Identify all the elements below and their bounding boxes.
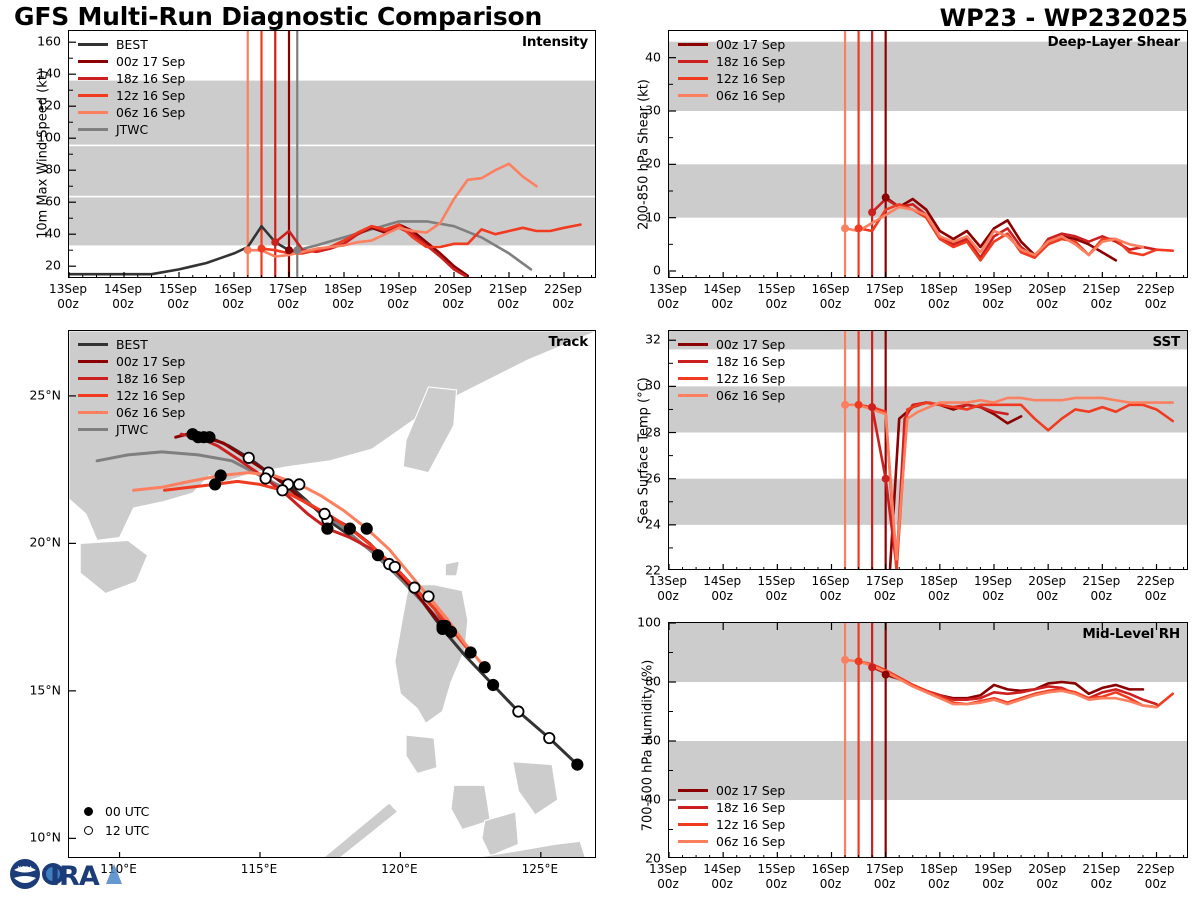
axis-tick-hour: 00z	[1137, 297, 1175, 312]
sst-panel: SST 00z 17 Sep18z 16 Sep12z 16 Sep06z 16…	[668, 330, 1188, 570]
legend-color-swatch	[78, 428, 108, 431]
axis-tick-label-group: 13Sep00z	[49, 282, 87, 312]
axis-tick-label-group: 17Sep00z	[866, 282, 904, 312]
axis-tick-label-group: 22Sep00z	[1137, 862, 1175, 892]
axis-tick-label-group: 16Sep00z	[812, 862, 850, 892]
series-endpoint-marker	[244, 246, 252, 254]
legend-item: 12z 16 Sep	[678, 816, 785, 833]
legend-color-swatch	[678, 43, 708, 46]
legend-item-label: 00z 17 Sep	[116, 54, 185, 69]
track-point-12utc	[319, 509, 329, 519]
axis-tick-hour: 00z	[649, 877, 687, 892]
axis-tick-label: 80	[45, 162, 61, 177]
sst-panel-label: SST	[1153, 334, 1180, 350]
axis-tick-hour: 00z	[489, 297, 527, 312]
landmass	[454, 841, 586, 858]
axis-tick-date: 19Sep	[974, 574, 1012, 589]
legend-item-label: 18z 16 Sep	[716, 800, 785, 815]
axis-tick-label: 20°N	[29, 535, 61, 550]
track-point-00utc	[215, 470, 225, 480]
legend-item: 18z 16 Sep	[78, 370, 185, 387]
legend-color-swatch	[78, 77, 108, 80]
track-point-12utc	[277, 485, 287, 495]
legend-item-label: 06z 16 Sep	[716, 88, 785, 103]
legend-item: 18z 16 Sep	[678, 799, 785, 816]
legend-item-label: 06z 16 Sep	[116, 105, 185, 120]
series-endpoint-marker	[855, 657, 863, 665]
axis-tick-label-group: 19Sep00z	[974, 862, 1012, 892]
legend-item: 00z 17 Sep	[678, 36, 785, 53]
axis-tick-hour: 00z	[1028, 297, 1066, 312]
legend-color-swatch	[678, 394, 708, 397]
axis-tick-label-group: 15Sep00z	[757, 574, 795, 604]
noaa-emblem-icon: NOAA	[10, 859, 40, 889]
legend-color-swatch	[78, 360, 108, 363]
axis-tick-date: 13Sep	[649, 862, 687, 877]
axis-tick-date: 18Sep	[920, 574, 958, 589]
axis-tick-label: 100	[637, 615, 661, 630]
track-point-00utc	[572, 759, 582, 769]
legend-item-label: 18z 16 Sep	[116, 371, 185, 386]
axis-tick-label-group: 18Sep00z	[324, 282, 362, 312]
axis-tick-hour: 00z	[812, 589, 850, 604]
axis-tick-date: 14Sep	[703, 282, 741, 297]
rh-panel: Mid-Level RH 00z 17 Sep18z 16 Sep12z 16 …	[668, 622, 1188, 858]
track-point-00utc	[465, 647, 475, 657]
axis-tick-label-group: 15Sep00z	[159, 282, 197, 312]
shaded-band	[669, 479, 1188, 525]
marker-legend-item: 00 UTC	[74, 802, 149, 821]
axis-tick-date: 18Sep	[920, 282, 958, 297]
landmass	[513, 762, 558, 815]
axis-tick-hour: 00z	[812, 877, 850, 892]
series-endpoint-marker	[841, 656, 849, 664]
landmass	[406, 735, 437, 773]
series-endpoint-marker	[868, 208, 876, 216]
track-map-panel: Track BEST00z 17 Sep18z 16 Sep12z 16 Sep…	[68, 330, 596, 858]
sst-y-axis-label: Sea Surface Temp (°C)	[637, 331, 652, 571]
axis-tick-date: 14Sep	[703, 574, 741, 589]
axis-tick-date: 19Sep	[974, 282, 1012, 297]
axis-tick-date: 17Sep	[866, 282, 904, 297]
track-point-00utc	[479, 662, 489, 672]
series-endpoint-marker	[882, 193, 890, 201]
axis-tick-label-group: 13Sep00z	[649, 862, 687, 892]
legend-item: 12z 16 Sep	[78, 87, 185, 104]
axis-tick-label-group: 18Sep00z	[920, 574, 958, 604]
axis-tick-hour: 00z	[703, 297, 741, 312]
legend-item: 00z 17 Sep	[678, 336, 785, 353]
axis-tick-date: 21Sep	[489, 282, 527, 297]
axis-tick-date: 19Sep	[379, 282, 417, 297]
legend-item-label: 00z 17 Sep	[716, 783, 785, 798]
axis-tick-label: 80	[645, 674, 661, 689]
legend-item-label: 18z 16 Sep	[716, 354, 785, 369]
axis-tick-date: 16Sep	[812, 574, 850, 589]
axis-tick-hour: 00z	[1028, 877, 1066, 892]
track-point-12utc	[423, 591, 433, 601]
track-point-00utc	[362, 523, 372, 533]
axis-tick-label-group: 13Sep00z	[649, 574, 687, 604]
axis-tick-date: 13Sep	[649, 282, 687, 297]
axis-tick-label-group: 18Sep00z	[920, 862, 958, 892]
axis-tick-hour: 00z	[866, 589, 904, 604]
legend-item: 18z 16 Sep	[678, 53, 785, 70]
legend-color-swatch	[78, 343, 108, 346]
axis-tick-label: 100	[37, 130, 61, 145]
axis-tick-label: 120°E	[381, 862, 418, 877]
legend-color-swatch	[678, 377, 708, 380]
track-point-12utc	[544, 733, 554, 743]
axis-tick-label: 60	[45, 194, 61, 209]
axis-tick-label-group: 22Sep00z	[1137, 282, 1175, 312]
legend-color-swatch	[78, 94, 108, 97]
legend-item: JTWC	[78, 121, 185, 138]
axis-tick-label: 160	[37, 34, 61, 49]
series-endpoint-marker	[882, 671, 890, 679]
marker-legend-label: 12 UTC	[105, 823, 149, 838]
legend-item-label: 12z 16 Sep	[716, 817, 785, 832]
axis-tick-date: 20Sep	[1028, 282, 1066, 297]
axis-tick-hour: 00z	[49, 297, 87, 312]
legend-item: 06z 16 Sep	[678, 87, 785, 104]
landmass	[445, 561, 459, 576]
axis-tick-hour: 00z	[1028, 589, 1066, 604]
axis-tick-hour: 00z	[1137, 877, 1175, 892]
track-point-12utc	[513, 706, 523, 716]
axis-tick-hour: 00z	[757, 589, 795, 604]
axis-tick-hour: 00z	[1082, 589, 1120, 604]
axis-tick-hour: 00z	[974, 297, 1012, 312]
axis-tick-label: 20	[645, 156, 661, 171]
axis-tick-date: 15Sep	[757, 862, 795, 877]
series-endpoint-marker	[841, 224, 849, 232]
axis-tick-date: 16Sep	[214, 282, 252, 297]
shear-panel-label: Deep-Layer Shear	[1048, 34, 1180, 50]
axis-tick-label-group: 16Sep00z	[812, 282, 850, 312]
series-endpoint-marker	[285, 246, 293, 254]
track-point-00utc	[373, 550, 383, 560]
axis-tick-label: 15°N	[29, 682, 61, 697]
legend-item: BEST	[78, 336, 185, 353]
axis-tick-hour: 00z	[703, 589, 741, 604]
track-point-00utc	[446, 627, 456, 637]
axis-tick-label: 30	[645, 378, 661, 393]
axis-tick-label-group: 20Sep00z	[1028, 282, 1066, 312]
axis-tick-label-group: 14Sep00z	[104, 282, 142, 312]
axis-tick-hour: 00z	[544, 297, 582, 312]
axis-tick-date: 21Sep	[1082, 862, 1120, 877]
axis-tick-hour: 00z	[1082, 297, 1120, 312]
legend-item: 06z 16 Sep	[78, 104, 185, 121]
axis-tick-label-group: 19Sep00z	[974, 282, 1012, 312]
legend-color-swatch	[678, 789, 708, 792]
intensity-panel-label: Intensity	[522, 34, 588, 50]
axis-tick-hour: 00z	[649, 297, 687, 312]
axis-tick-hour: 00z	[379, 297, 417, 312]
axis-tick-label: 120	[37, 98, 61, 113]
axis-tick-date: 18Sep	[920, 862, 958, 877]
legend-item-label: 18z 16 Sep	[116, 71, 185, 86]
axis-tick-hour: 00z	[434, 297, 472, 312]
rh-panel-label: Mid-Level RH	[1082, 626, 1180, 642]
legend-item-label: 06z 16 Sep	[716, 834, 785, 849]
axis-tick-label: 115°E	[241, 862, 278, 877]
axis-tick-label: 28	[645, 424, 661, 439]
axis-tick-hour: 00z	[757, 877, 795, 892]
axis-tick-label-group: 22Sep00z	[544, 282, 582, 312]
axis-tick-date: 21Sep	[1082, 282, 1120, 297]
legend-color-swatch	[78, 60, 108, 63]
axis-tick-date: 22Sep	[1137, 862, 1175, 877]
axis-tick-label-group: 20Sep00z	[1028, 574, 1066, 604]
series-endpoint-marker	[855, 224, 863, 232]
axis-tick-date: 17Sep	[866, 574, 904, 589]
axis-tick-label-group: 14Sep00z	[703, 282, 741, 312]
legend-item-label: 00z 17 Sep	[116, 354, 185, 369]
axis-tick-label-group: 15Sep00z	[757, 282, 795, 312]
axis-tick-hour: 00z	[104, 297, 142, 312]
legend-item: BEST	[78, 36, 185, 53]
legend-item: 18z 16 Sep	[78, 70, 185, 87]
axis-tick-label-group: 18Sep00z	[920, 282, 958, 312]
axis-tick-label: 24	[645, 516, 661, 531]
legend-item-label: 12z 16 Sep	[716, 71, 785, 86]
legend-color-swatch	[78, 128, 108, 131]
legend-item-label: BEST	[116, 37, 148, 52]
page-title: GFS Multi-Run Diagnostic Comparison	[14, 2, 542, 31]
axis-tick-label: 10°N	[29, 830, 61, 845]
axis-tick-hour: 00z	[269, 297, 307, 312]
legend-item: 06z 16 Sep	[678, 387, 785, 404]
legend-item: 12z 16 Sep	[678, 70, 785, 87]
axis-tick-label-group: 19Sep00z	[974, 574, 1012, 604]
track-point-00utc	[322, 523, 332, 533]
cira-wordmark: IRA	[42, 861, 122, 892]
axis-tick-hour: 00z	[1137, 589, 1175, 604]
axis-tick-date: 17Sep	[269, 282, 307, 297]
axis-tick-label-group: 22Sep00z	[1137, 574, 1175, 604]
axis-tick-label-group: 17Sep00z	[866, 574, 904, 604]
legend-color-swatch	[78, 43, 108, 46]
axis-tick-date: 20Sep	[434, 282, 472, 297]
legend-item-label: 18z 16 Sep	[716, 54, 785, 69]
axis-tick-date: 22Sep	[1137, 282, 1175, 297]
axis-tick-date: 20Sep	[1028, 862, 1066, 877]
axis-tick-hour: 00z	[920, 297, 958, 312]
legend-color-swatch	[678, 360, 708, 363]
landmass	[80, 540, 147, 593]
legend-color-swatch	[678, 77, 708, 80]
axis-tick-date: 13Sep	[649, 574, 687, 589]
landmass	[322, 803, 398, 858]
svg-text:NOAA: NOAA	[18, 866, 33, 872]
axis-tick-label-group: 15Sep00z	[757, 862, 795, 892]
axis-tick-label: 40	[645, 49, 661, 64]
axis-tick-label: 40	[645, 792, 661, 807]
axis-tick-date: 17Sep	[866, 862, 904, 877]
shaded-band	[669, 164, 1188, 217]
axis-tick-label-group: 16Sep00z	[812, 574, 850, 604]
track-point-00utc	[193, 432, 203, 442]
legend-color-swatch	[78, 111, 108, 114]
axis-tick-date: 15Sep	[757, 574, 795, 589]
axis-tick-date: 16Sep	[812, 862, 850, 877]
axis-tick-date: 15Sep	[159, 282, 197, 297]
axis-tick-label-group: 14Sep00z	[703, 574, 741, 604]
axis-tick-hour: 00z	[703, 877, 741, 892]
legend-item-label: BEST	[116, 337, 148, 352]
series-endpoint-marker	[271, 238, 279, 246]
legend-color-swatch	[678, 823, 708, 826]
legend-item-label: 06z 16 Sep	[716, 388, 785, 403]
axis-tick-hour: 00z	[866, 297, 904, 312]
axis-tick-hour: 00z	[974, 589, 1012, 604]
axis-tick-hour: 00z	[920, 589, 958, 604]
axis-tick-label-group: 21Sep00z	[1082, 862, 1120, 892]
axis-tick-hour: 00z	[159, 297, 197, 312]
legend-item: 12z 16 Sep	[678, 370, 785, 387]
axis-tick-label: 125°E	[522, 862, 559, 877]
track-point-12utc	[260, 473, 270, 483]
legend-item-label: JTWC	[116, 422, 148, 437]
series-endpoint-marker	[293, 246, 301, 254]
storm-id-title: WP23 - WP232025	[940, 4, 1188, 32]
axis-tick-hour: 00z	[214, 297, 252, 312]
legend-item-label: 00z 17 Sep	[716, 337, 785, 352]
legend-item-label: 12z 16 Sep	[116, 388, 185, 403]
axis-tick-label-group: 14Sep00z	[703, 862, 741, 892]
axis-tick-label-group: 19Sep00z	[379, 282, 417, 312]
sst-legend: 00z 17 Sep18z 16 Sep12z 16 Sep06z 16 Sep	[678, 336, 785, 404]
axis-tick-label: 40	[45, 226, 61, 241]
axis-tick-label-group: 21Sep00z	[489, 282, 527, 312]
legend-item-label: 12z 16 Sep	[716, 371, 785, 386]
marker-legend-item: 12 UTC	[74, 821, 149, 840]
axis-tick-hour: 00z	[866, 877, 904, 892]
axis-tick-hour: 00z	[974, 877, 1012, 892]
track-point-12utc	[244, 453, 254, 463]
axis-tick-label: 60	[645, 733, 661, 748]
axis-tick-date: 15Sep	[757, 282, 795, 297]
axis-tick-label-group: 20Sep00z	[434, 282, 472, 312]
axis-tick-label: 26	[645, 470, 661, 485]
legend-item: 12z 16 Sep	[78, 387, 185, 404]
axis-tick-date: 13Sep	[49, 282, 87, 297]
shear-y-axis-label: 200-850 hPa Shear (kt)	[637, 35, 652, 275]
legend-color-swatch	[678, 806, 708, 809]
track-point-12utc	[294, 479, 304, 489]
legend-item: 06z 16 Sep	[678, 833, 785, 850]
legend-color-swatch	[678, 840, 708, 843]
axis-tick-label-group: 21Sep00z	[1082, 282, 1120, 312]
intensity-legend: BEST00z 17 Sep18z 16 Sep12z 16 Sep06z 16…	[78, 36, 185, 138]
track-marker-legend: 00 UTC12 UTC	[74, 802, 149, 840]
axis-tick-date: 22Sep	[1137, 574, 1175, 589]
legend-item: 06z 16 Sep	[78, 404, 185, 421]
axis-tick-hour: 00z	[649, 589, 687, 604]
legend-item: 00z 17 Sep	[78, 53, 185, 70]
axis-tick-label: 0	[653, 263, 661, 278]
legend-color-swatch	[678, 60, 708, 63]
legend-item: 00z 17 Sep	[678, 782, 785, 799]
track-point-00utc	[345, 523, 355, 533]
axis-tick-label-group: 16Sep00z	[214, 282, 252, 312]
series-endpoint-marker	[855, 401, 863, 409]
track-panel-label: Track	[549, 334, 588, 350]
track-point-00utc	[488, 680, 498, 690]
axis-tick-hour: 00z	[757, 297, 795, 312]
axis-tick-date: 19Sep	[974, 862, 1012, 877]
legend-color-swatch	[678, 94, 708, 97]
legend-color-swatch	[78, 411, 108, 414]
legend-color-swatch	[678, 343, 708, 346]
axis-tick-label-group: 20Sep00z	[1028, 862, 1066, 892]
series-endpoint-marker	[258, 245, 266, 253]
rh-legend: 00z 17 Sep18z 16 Sep12z 16 Sep06z 16 Sep	[678, 782, 785, 850]
axis-tick-label: 140	[37, 66, 61, 81]
axis-tick-label: 30	[645, 103, 661, 118]
series-endpoint-marker	[868, 663, 876, 671]
series-endpoint-marker	[882, 475, 890, 483]
legend-item: 18z 16 Sep	[678, 353, 785, 370]
axis-tick-label: 20	[45, 258, 61, 273]
axis-tick-hour: 00z	[1082, 877, 1120, 892]
axis-tick-date: 16Sep	[812, 282, 850, 297]
series-endpoint-marker	[868, 403, 876, 411]
legend-color-swatch	[78, 394, 108, 397]
legend-item: 00z 17 Sep	[78, 353, 185, 370]
axis-tick-date: 22Sep	[544, 282, 582, 297]
intensity-panel: Intensity BEST00z 17 Sep18z 16 Sep12z 16…	[68, 30, 596, 278]
open-circle-icon	[84, 826, 93, 835]
shear-panel: Deep-Layer Shear 00z 17 Sep18z 16 Sep12z…	[668, 30, 1188, 278]
legend-item: JTWC	[78, 421, 185, 438]
axis-tick-label-group: 17Sep00z	[269, 282, 307, 312]
axis-tick-hour: 00z	[324, 297, 362, 312]
marker-legend-label: 00 UTC	[105, 804, 149, 819]
track-point-12utc	[390, 562, 400, 572]
legend-item-label: 00z 17 Sep	[716, 37, 785, 52]
shear-legend: 00z 17 Sep18z 16 Sep12z 16 Sep06z 16 Sep	[678, 36, 785, 104]
axis-tick-date: 18Sep	[324, 282, 362, 297]
svg-text:IRA: IRA	[50, 861, 100, 892]
axis-tick-label: 25°N	[29, 387, 61, 402]
axis-tick-label-group: 13Sep00z	[649, 282, 687, 312]
axis-tick-label: 32	[645, 332, 661, 347]
shaded-band	[69, 197, 596, 245]
track-legend: BEST00z 17 Sep18z 16 Sep12z 16 Sep06z 16…	[78, 336, 185, 438]
legend-item-label: JTWC	[116, 122, 148, 137]
axis-tick-date: 21Sep	[1082, 574, 1120, 589]
track-point-12utc	[409, 582, 419, 592]
legend-color-swatch	[78, 377, 108, 380]
axis-tick-label-group: 21Sep00z	[1082, 574, 1120, 604]
axis-tick-label: 10	[645, 209, 661, 224]
filled-circle-icon	[84, 807, 93, 816]
axis-tick-hour: 00z	[812, 297, 850, 312]
legend-item-label: 06z 16 Sep	[116, 405, 185, 420]
cira-logo: NOAA IRA	[6, 854, 126, 898]
axis-tick-date: 14Sep	[104, 282, 142, 297]
legend-item-label: 12z 16 Sep	[116, 88, 185, 103]
axis-tick-date: 14Sep	[703, 862, 741, 877]
axis-tick-label-group: 17Sep00z	[866, 862, 904, 892]
axis-tick-date: 20Sep	[1028, 574, 1066, 589]
series-endpoint-marker	[841, 401, 849, 409]
axis-tick-hour: 00z	[920, 877, 958, 892]
